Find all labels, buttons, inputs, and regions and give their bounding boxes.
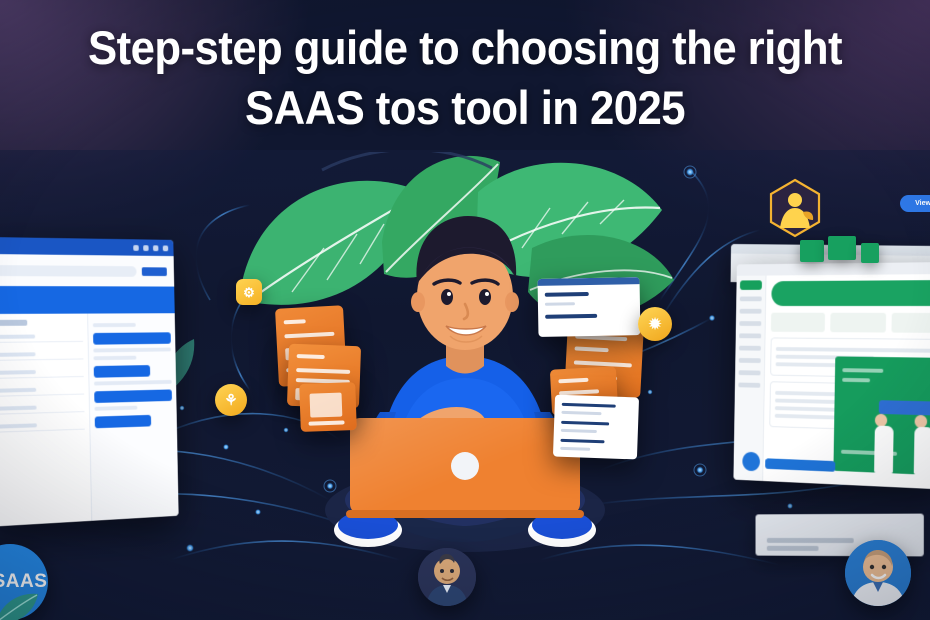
left-panel-sidebar-detail <box>88 313 179 521</box>
detail-chip[interactable] <box>95 389 172 403</box>
app-logo <box>740 280 762 290</box>
person-body <box>874 426 894 474</box>
headline-line-2: SAAS tos tool in 2025 <box>49 78 880 138</box>
detail-chip[interactable] <box>93 332 170 344</box>
share-network-icon[interactable]: ⚘ <box>215 384 247 416</box>
view-pill-button[interactable]: View <box>900 195 930 212</box>
nav-item[interactable] <box>740 296 762 301</box>
avatar-photo <box>418 548 476 606</box>
window-titlebar <box>538 277 640 286</box>
banner-canvas: View <box>0 0 930 620</box>
left-dashboard-mockup[interactable] <box>0 237 179 527</box>
detail-chip[interactable] <box>95 415 151 428</box>
right-panel-nav <box>733 276 766 481</box>
saas-badge-label: SAAS <box>0 571 47 593</box>
stat-row <box>771 313 930 333</box>
teal-leaf-decoration <box>0 592 40 620</box>
left-panel-topbar <box>0 237 174 256</box>
nav-item[interactable] <box>740 309 762 314</box>
green-tile <box>828 236 856 260</box>
settings-icon[interactable] <box>153 245 158 251</box>
detail-line <box>95 406 138 411</box>
stat-card[interactable] <box>830 313 886 333</box>
green-presentation-slide <box>833 356 930 476</box>
left-panel-toolbar <box>0 254 174 287</box>
primary-action-button[interactable] <box>142 267 167 276</box>
left-panel-table <box>0 314 92 527</box>
idea-bulb-icon[interactable]: ✹ <box>638 307 672 341</box>
nav-item[interactable] <box>739 370 761 375</box>
user-avatar-center[interactable] <box>418 548 476 606</box>
table-row[interactable] <box>0 368 84 379</box>
detail-line <box>94 348 171 353</box>
cart-icon[interactable] <box>143 245 148 251</box>
nav-item[interactable] <box>739 333 761 338</box>
floating-list-card[interactable] <box>553 395 639 460</box>
nav-item[interactable] <box>738 383 760 388</box>
settings-gear-icon[interactable]: ⚙ <box>236 279 262 305</box>
headline-line-1: Step-step guide to choosing the right <box>49 18 880 78</box>
hexagon-avatar-frame <box>768 178 822 238</box>
table-row[interactable] <box>0 386 85 397</box>
left-panel-banner <box>0 286 175 314</box>
right-dashboard-mockup[interactable] <box>733 262 930 490</box>
green-tile <box>800 240 824 262</box>
presenter-person-a <box>874 414 894 474</box>
bulb-glyph: ✹ <box>649 317 662 332</box>
person-body <box>914 427 930 475</box>
card-line <box>776 347 930 353</box>
detail-label <box>93 323 136 327</box>
bell-icon[interactable] <box>133 245 139 251</box>
hero-banner <box>771 280 930 306</box>
presenter-person-b <box>914 415 930 475</box>
page-title: Step-step guide to choosing the right SA… <box>0 18 930 138</box>
floating-window-card[interactable] <box>538 277 641 337</box>
search-input[interactable] <box>0 265 137 277</box>
detail-line <box>94 380 171 386</box>
stat-card[interactable] <box>891 313 930 333</box>
pill-button-label: View <box>915 200 930 207</box>
share-glyph: ⚘ <box>224 393 237 408</box>
floating-card-orange[interactable] <box>299 382 357 432</box>
table-header <box>0 320 28 326</box>
user-avatar-right[interactable] <box>845 540 911 606</box>
nav-item[interactable] <box>739 358 761 363</box>
detail-chip[interactable] <box>94 365 150 378</box>
gear-glyph: ⚙ <box>243 286 255 299</box>
left-panel-body <box>0 313 179 527</box>
green-tile <box>861 243 879 263</box>
user-icon[interactable] <box>163 245 168 251</box>
table-row[interactable] <box>0 421 85 433</box>
stat-card[interactable] <box>771 313 825 332</box>
table-row[interactable] <box>0 403 85 415</box>
avatar-photo <box>845 540 911 606</box>
detail-line <box>94 356 137 361</box>
nav-item[interactable] <box>739 346 761 351</box>
nav-item[interactable] <box>739 321 761 326</box>
table-row[interactable] <box>0 333 83 343</box>
table-row[interactable] <box>0 351 84 361</box>
